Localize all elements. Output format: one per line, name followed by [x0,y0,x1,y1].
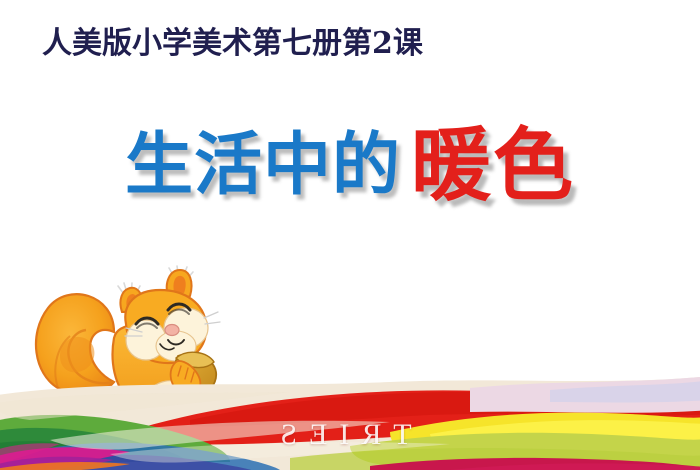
color-swatch-band: TRIES [0,370,700,470]
page-title-blue-segment: 生活中的 [125,132,401,200]
paint-strokes [0,370,700,470]
page-title: 生活中的暖色 [0,126,700,206]
course-header-text: 人美版小学美术第七册第2课 [42,28,423,60]
page-title-red-segment: 暖色 [411,126,575,206]
slide-canvas: 人美版小学美术第七册第2课 生活中的暖色 [0,0,700,470]
